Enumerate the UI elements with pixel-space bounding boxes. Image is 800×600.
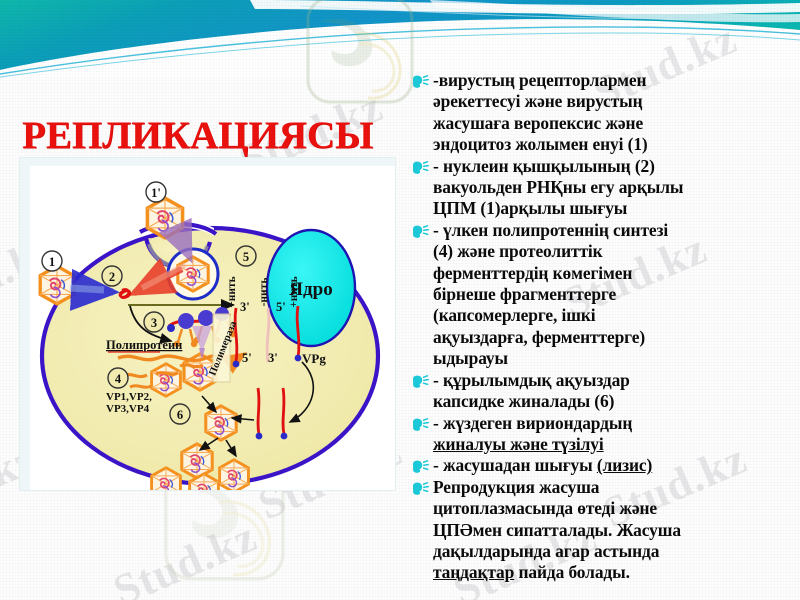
bullet-line: дақылдарында агар астында <box>433 541 681 562</box>
bullet-plain-text: - жүздеген вириондардың <box>433 413 632 433</box>
diagram-frame: Ядро <box>20 158 395 490</box>
bullet-marker-icon <box>412 375 430 391</box>
bullet-line: жиналуы және түзілуі <box>433 434 632 455</box>
diagram-panel: Ядро <box>30 166 395 490</box>
bullet-plain-text: ферменттердің көмегімен <box>433 263 632 283</box>
bullet-line: ақуыздарға, ферменттерге) <box>433 327 668 348</box>
bullet-plain-text: (4) және протеолиттік <box>433 241 603 261</box>
bullet-marker-icon <box>412 161 430 177</box>
step-label-4: 4 <box>115 372 122 386</box>
bullet-plain-text: - құрылымдық ақуыздар <box>433 370 630 390</box>
bullet-line: бірнеше фрагменттерге <box>433 284 668 305</box>
bullet-text: - жасушадан шығуы (лизис) <box>433 455 652 476</box>
bullet-line: эндоцитоз жолымен енуі (1) <box>433 134 648 155</box>
bullet-plain-text: - үлкен полипротеннің синтезі <box>433 220 668 240</box>
bullet-plain-text: ЦПМ (1)арқылы шығуы <box>433 198 627 218</box>
bullet-plain-text: ыдырауы <box>433 348 508 368</box>
bullet-line: - нуклеин қышқылының (2) <box>433 156 683 177</box>
bullet-underlined-text: (лизис) <box>597 455 652 475</box>
bullet-plain-text: дақылдарында агар астында <box>433 541 659 561</box>
bullet-marker-icon <box>412 75 430 91</box>
bullet-marker-icon <box>412 225 430 241</box>
bullet-marker-icon <box>412 482 430 498</box>
bullet-text: Репродукция жасушацитоплазмасында өтеді … <box>433 477 681 584</box>
plus-strand-label-2: +нить <box>288 276 300 308</box>
bullet-text: -вирустың рецепторларменәрекеттесуі және… <box>433 70 648 156</box>
bullet-line: капсидке жиналады (6) <box>433 391 630 412</box>
step-label-1prime: 1' <box>151 186 161 200</box>
vpg-label: VPg <box>302 351 326 366</box>
virion-assembled <box>206 406 236 440</box>
bullet-plain-text: ақуыздарға, ферменттерге) <box>433 327 645 347</box>
bullet-plain-text: эндоцитоз жолымен енуі (1) <box>433 134 648 154</box>
bullet-line: - құрылымдық ақуыздар <box>433 370 630 391</box>
five-prime-label-a: 5' <box>276 300 286 314</box>
bullet-item: -вирустың рецепторларменәрекеттесуі және… <box>412 70 794 156</box>
virion-attached-left <box>40 266 74 304</box>
plus-strand-label-1: +нить <box>226 276 238 308</box>
bullet-plain-text: пайда болады. <box>514 562 630 582</box>
bullet-text: - жүздеген вириондардыңжиналуы және түзі… <box>433 413 632 456</box>
bullet-line: -вирустың рецепторлармен <box>433 70 648 91</box>
three-prime-label-a: 3' <box>240 300 250 314</box>
polyprotein-label: Полипротеин <box>106 338 182 352</box>
virion-in-endosome <box>178 257 208 291</box>
bullet-plain-text: вакуольден РНҚны егу арқылы <box>433 177 683 197</box>
bullet-line: (4) және протеолиттік <box>433 241 668 262</box>
bullet-plain-text: ЦПӘмен сипатталады. Жасуша <box>433 520 681 540</box>
bullet-line: ферменттердің көмегімен <box>433 263 668 284</box>
step-label-2: 2 <box>109 270 115 284</box>
virus-replication-diagram: Ядро <box>30 166 395 490</box>
bullet-item: - нуклеин қышқылының (2)вакуольден РНҚны… <box>412 156 794 220</box>
bullet-underlined-text: жиналуы және түзілуі <box>433 434 604 454</box>
bullet-marker-icon <box>412 460 430 476</box>
bullet-plain-text: әрекеттесуі және вирустың <box>433 91 643 111</box>
virion-exiting-1 <box>182 444 212 478</box>
bullet-line: ЦПМ (1)арқылы шығуы <box>433 198 683 219</box>
bullet-line: - үлкен полипротеннің синтезі <box>433 220 668 241</box>
bullet-plain-text: Репродукция жасуша <box>433 477 599 497</box>
bullet-plain-text: (капсомерлерге, ішкі <box>433 305 596 325</box>
bullet-plain-text: жасушаға веропексис және <box>433 113 643 133</box>
bullet-line: жасушаға веропексис және <box>433 113 648 134</box>
bullet-text: - үлкен полипротеннің синтезі(4) және пр… <box>433 220 668 370</box>
virion-exiting-2 <box>220 460 249 490</box>
bullet-plain-text: - нуклеин қышқылының (2) <box>433 156 655 176</box>
slide-title: РЕПЛИКАЦИЯСЫ <box>22 113 373 158</box>
bullet-item: - жасушадан шығуы (лизис) <box>412 455 794 476</box>
step-label-3: 3 <box>151 316 157 330</box>
bullet-list: -вирустың рецепторларменәрекеттесуі және… <box>412 70 794 584</box>
minus-strand-label: -нить <box>258 278 270 307</box>
bullet-item: - жүздеген вириондардыңжиналуы және түзі… <box>412 413 794 456</box>
bullet-marker-icon <box>412 418 430 434</box>
bullet-plain-text: капсидке жиналады (6) <box>433 391 614 411</box>
bullet-plain-text: -вирустың рецепторлармен <box>433 70 646 90</box>
bullet-underlined-text: таңдақтар <box>433 562 514 582</box>
watermark-text: Stud.kz <box>106 511 264 600</box>
slide-header-banner <box>0 0 800 78</box>
five-prime-label-b: 5' <box>242 351 252 365</box>
bullet-line: вакуольден РНҚны егу арқылы <box>433 177 683 198</box>
virion-assembly-b <box>152 364 181 396</box>
bullet-line: цитоплазмасында өтеді және <box>433 498 681 519</box>
bullet-line: - жүздеген вириондардың <box>433 413 632 434</box>
bullet-line: ЦПӘмен сипатталады. Жасуша <box>433 520 681 541</box>
bullet-plain-text: - жасушадан шығуы <box>433 455 597 475</box>
bullet-item: - үлкен полипротеннің синтезі(4) және пр… <box>412 220 794 370</box>
bullet-text: - нуклеин қышқылының (2)вакуольден РНҚны… <box>433 156 683 220</box>
bullet-item: Репродукция жасушацитоплазмасында өтеді … <box>412 477 794 584</box>
step-label-6: 6 <box>177 408 183 422</box>
bullet-text: - құрылымдық ақуыздаркапсидке жиналады (… <box>433 370 630 413</box>
step-label-1: 1 <box>49 255 55 269</box>
virion-attached-top <box>147 198 182 238</box>
step-label-5: 5 <box>243 250 249 264</box>
capsid-proteins-label-1: VP1,VP2, <box>106 391 152 403</box>
bullet-line: таңдақтар пайда болады. <box>433 562 681 583</box>
bullet-line: Репродукция жасуша <box>433 477 681 498</box>
presentation-slide: Stud.kz Stud.kz Stud.kz Stud.kz Stud.kz … <box>0 0 800 600</box>
bullet-plain-text: цитоплазмасында өтеді және <box>433 498 657 518</box>
bullet-line: ыдырауы <box>433 348 668 369</box>
bullet-line: әрекеттесуі және вирустың <box>433 91 648 112</box>
bullet-line: (капсомерлерге, ішкі <box>433 305 668 326</box>
bullet-item: - құрылымдық ақуыздаркапсидке жиналады (… <box>412 370 794 413</box>
capsid-proteins-label-2: VP3,VP4 <box>106 403 150 415</box>
three-prime-label-b: 3' <box>268 351 278 365</box>
bullet-line: - жасушадан шығуы (лизис) <box>433 455 652 476</box>
bullet-plain-text: бірнеше фрагменттерге <box>433 284 616 304</box>
